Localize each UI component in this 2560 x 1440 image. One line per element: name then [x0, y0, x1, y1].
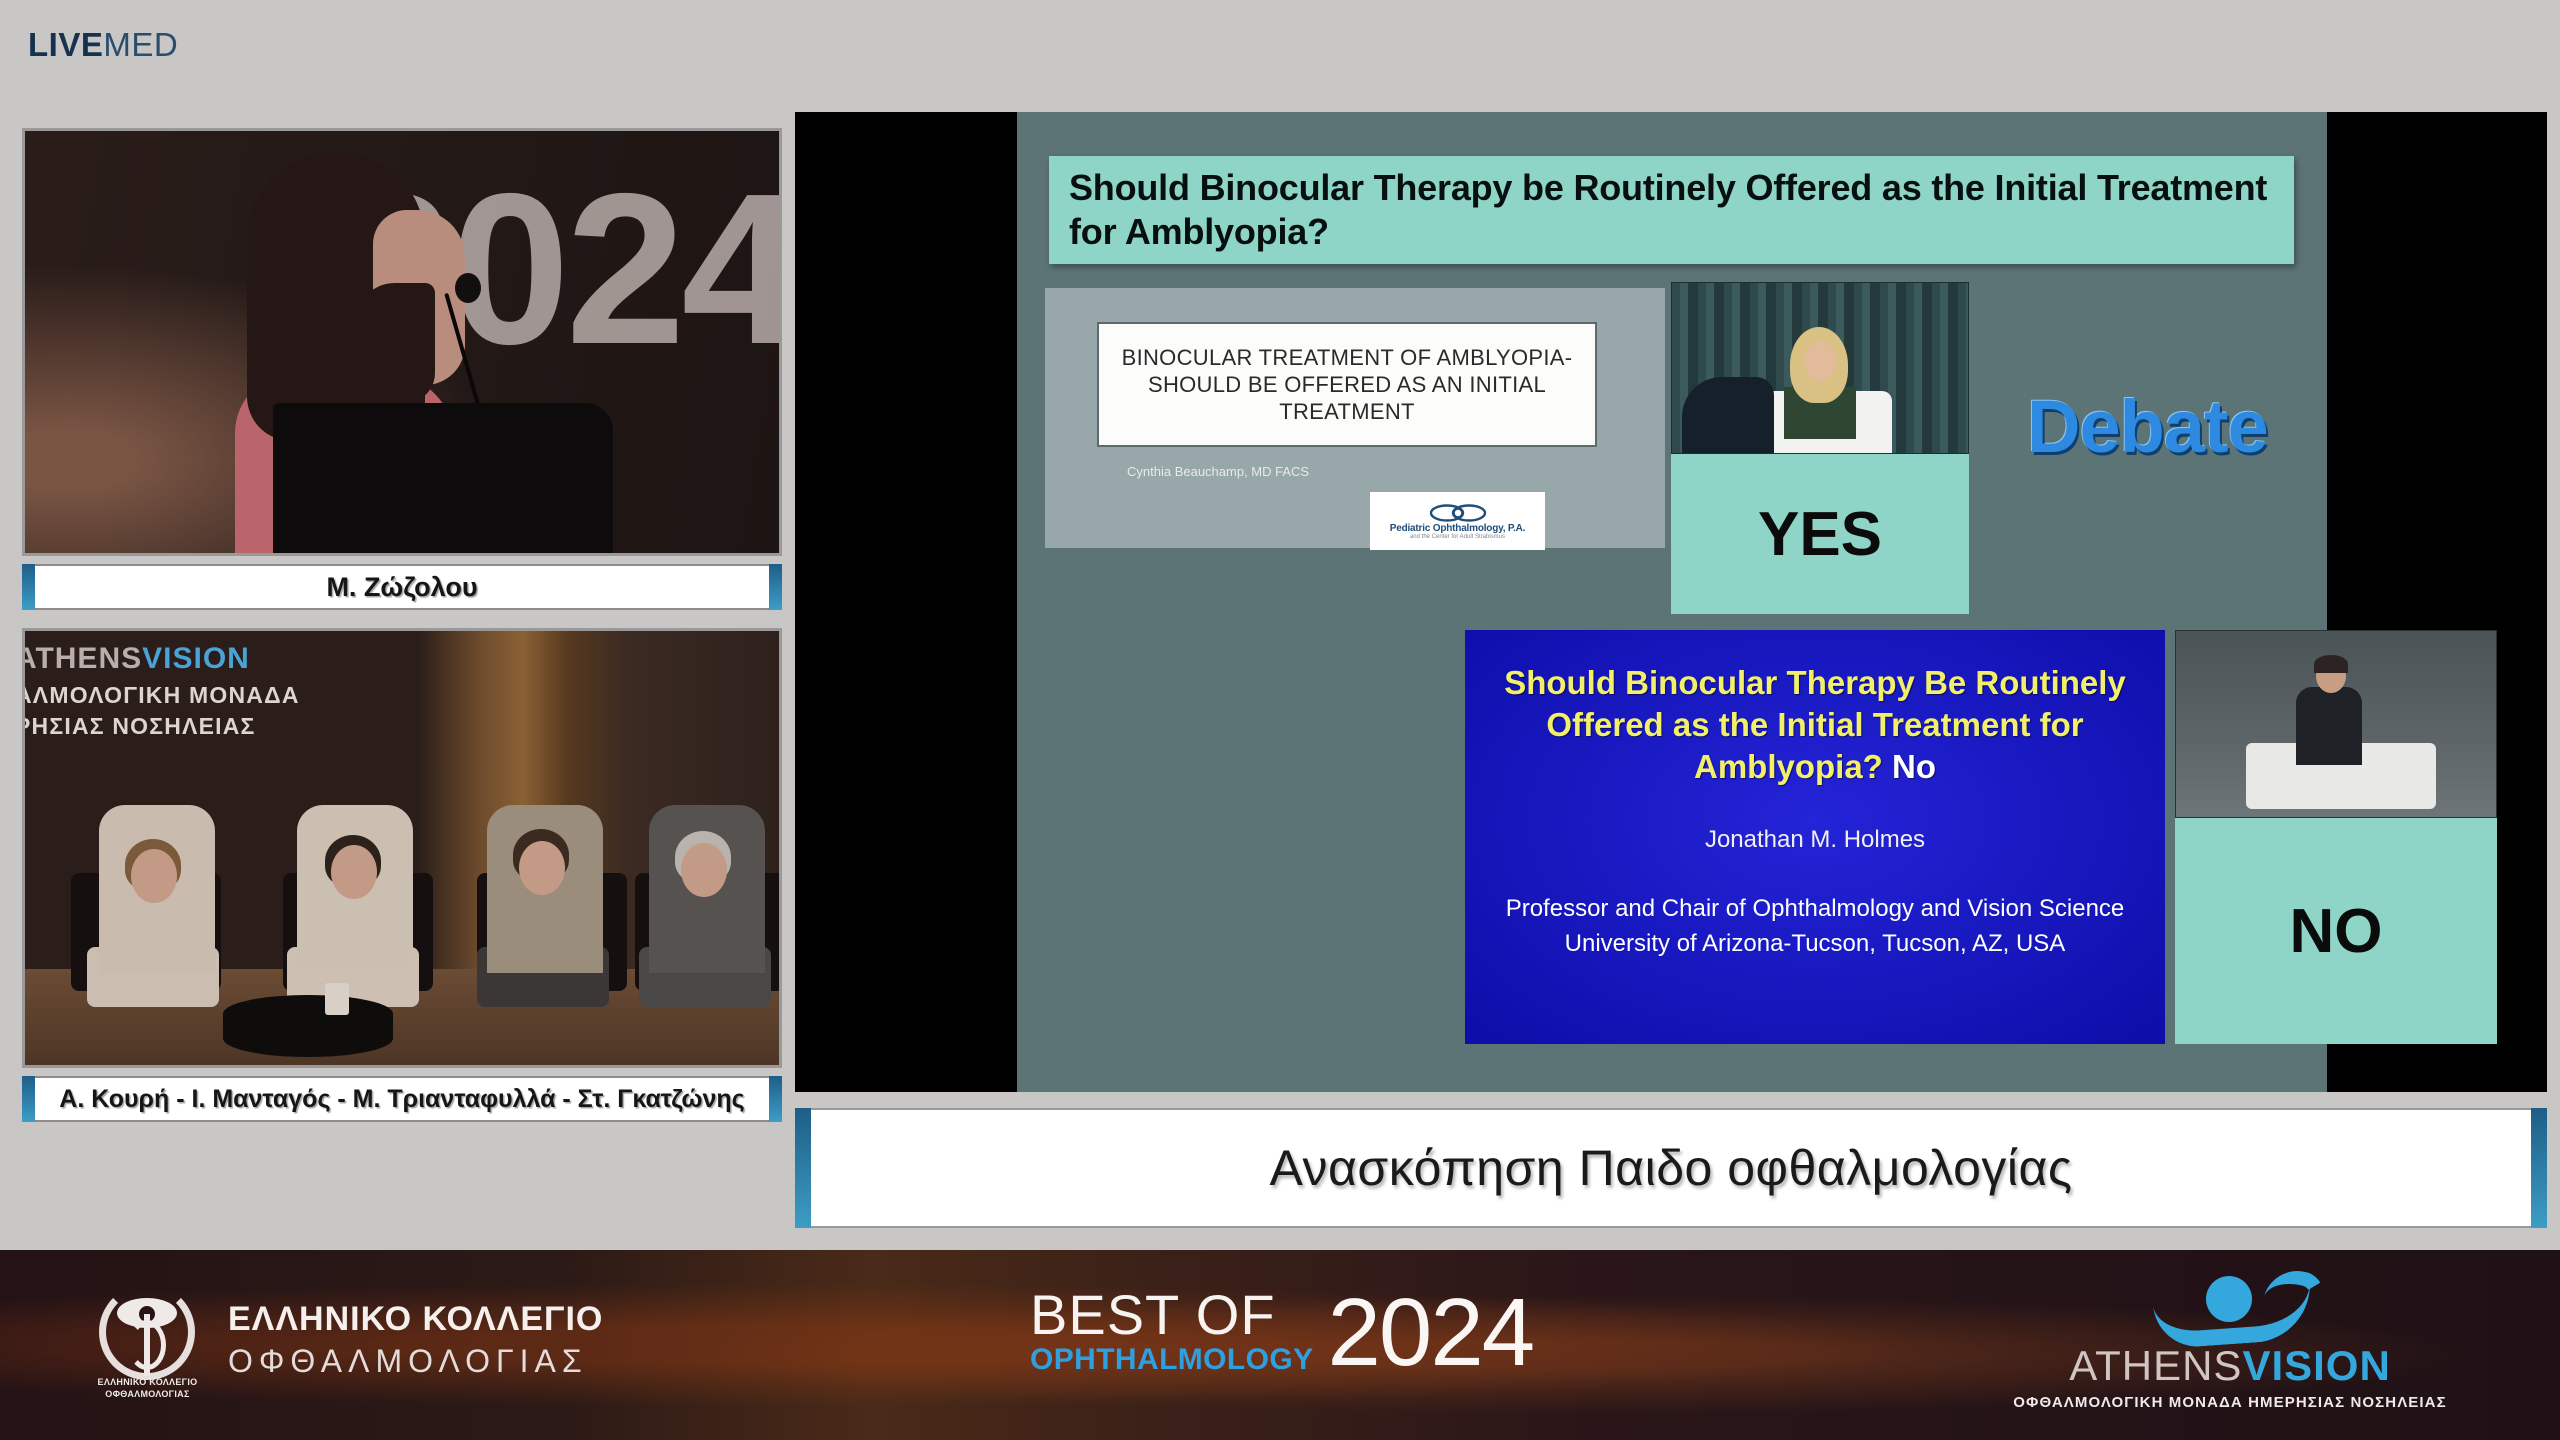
no-speaker-affiliation: Professor and Chair of Ophthalmology and… — [1465, 892, 2165, 962]
best-of-text-block: BEST OF OPHTHALMOLOGY — [1030, 1288, 1314, 1377]
affiliation-line-2: University of Arizona-Tucson, Tucson, AZ… — [1465, 927, 2165, 962]
panelists-name-text: Α. Κουρή - Ι. Μανταγός - Μ. Τριανταφυλλά… — [59, 1085, 744, 1114]
event-year: 2024 — [1328, 1290, 1534, 1376]
no-verdict-box: NO — [2175, 818, 2497, 1044]
panelists-name-bar: Α. Κουρή - Ι. Μανταγός - Μ. Τριανταφυλλά… — [22, 1076, 782, 1122]
debate-label: Debate — [2027, 384, 2268, 469]
emblem-caption: ΕΛΛΗΝΙΚΟ ΚΟΛΛΕΓΙΟ ΟΦΘΑΛΜΟΛΟΓΙΑΣ — [95, 1376, 200, 1400]
presentation-slide: Should Binocular Therapy be Routinely Of… — [1017, 112, 2327, 1092]
slide-title-banner: Should Binocular Therapy be Routinely Of… — [1049, 156, 2294, 264]
backdrop-sponsor-text: ATHENSVISION ΑΛΜΟΛΟΓΙΚΗ ΜΟΝΑΔΑ ΡΗΣΙΑΣ ΝΟ… — [22, 639, 300, 742]
no-slide-title-white: No — [1883, 748, 1936, 785]
livemed-logo: LIVEMED — [28, 26, 178, 64]
podium — [273, 403, 613, 553]
speaker-name-bar: Μ. Ζώζολου — [22, 564, 782, 610]
hellenic-college-line-1: ΕΛΛΗΝΙΚΟ ΚΟΛΛΕΓΙΟ — [228, 1300, 603, 1339]
video-feed-column: 2024 Μ. Ζώζολου ATHENSVISION ΑΛΜΟΛΟΓΙΚΗ … — [22, 128, 782, 1122]
backdrop-athensvision: ATHENSVISION — [22, 639, 300, 680]
foreground-person — [1682, 377, 1774, 453]
athensvision-subtitle: ΟΦΘΑΛΜΟΛΟΓΙΚΗ ΜΟΝΑΔΑ ΗΜΕΡΗΣΙΑΣ ΝΟΣΗΛΕΙΑΣ — [2010, 1394, 2450, 1411]
hellenic-college-line-2: ΟΦΘΑΛΜΟΛΟΓΙΑΣ — [228, 1343, 603, 1380]
session-title-bar: Ανασκόπηση Παιδο οφθαλμολογίας — [795, 1108, 2547, 1228]
video-feed-speaker[interactable]: 2024 — [22, 128, 782, 556]
backdrop-line3: ΡΗΣΙΑΣ ΝΟΣΗΛΕΙΑΣ — [22, 711, 300, 742]
yes-speaker-face — [1804, 341, 1836, 381]
broadcast-stage: LIVEMED 2024 Μ. Ζώζολου ATHENSVISION ΑΛΜ… — [0, 0, 2560, 1440]
yes-side-thumbnail: BINOCULAR TREATMENT OF AMBLYOPIA- SHOULD… — [1045, 288, 1665, 548]
panelist-head — [519, 841, 565, 895]
coffee-table — [223, 995, 393, 1057]
livemed-logo-light: MED — [103, 26, 178, 63]
yes-verdict-text: YES — [1758, 499, 1882, 570]
logo-name: Pediatric Ophthalmology, P.A. — [1390, 523, 1526, 534]
athensvision-name-blue: VISION — [2242, 1342, 2390, 1389]
athensvision-wordmark: ATHENSVISION — [2010, 1342, 2450, 1390]
session-title-text: Ανασκόπηση Παιδο οφθαλμολογίας — [1270, 1139, 2073, 1197]
no-verdict-text: NO — [2290, 896, 2383, 967]
linked-eyes-icon — [1429, 503, 1487, 523]
best-of-label: BEST OF — [1030, 1288, 1314, 1343]
hellenic-college-text: ΕΛΛΗΝΙΚΟ ΚΟΛΛΕΓΙΟ ΟΦΘΑΛΜΟΛΟΓΙΑΣ — [228, 1300, 603, 1380]
no-slide-title: Should Binocular Therapy Be Routinely Of… — [1487, 662, 2143, 789]
no-speaker-hair — [2314, 655, 2348, 673]
speaker-hair-front — [355, 283, 435, 403]
caduceus-eye-emblem-icon: ΕΛΛΗΝΙΚΟ ΚΟΛΛΕΓΙΟ ΟΦΘΑΛΜΟΛΟΓΙΑΣ — [95, 1280, 200, 1400]
slide-viewer[interactable]: Should Binocular Therapy be Routinely Of… — [795, 112, 2547, 1092]
no-speaker-photo — [2175, 630, 2497, 818]
yes-author-name: Cynthia Beauchamp, MD FACS — [1127, 464, 1309, 479]
pediatric-ophthalmology-logo: Pediatric Ophthalmology, P.A. and the Ce… — [1370, 492, 1545, 550]
livemed-logo-bold: LIVE — [28, 26, 103, 63]
backdrop-line2: ΑΛΜΟΛΟΓΙΚΗ ΜΟΝΑΔΑ — [22, 680, 300, 711]
video-feed-panel[interactable]: ATHENSVISION ΑΛΜΟΛΟΓΙΚΗ ΜΟΝΑΔΑ ΡΗΣΙΑΣ ΝΟ… — [22, 628, 782, 1068]
affiliation-line-1: Professor and Chair of Ophthalmology and… — [1465, 892, 2165, 927]
microphone-head — [455, 273, 481, 303]
serpent-shape — [128, 1320, 166, 1370]
yes-slide-card-text: BINOCULAR TREATMENT OF AMBLYOPIA- SHOULD… — [1099, 344, 1595, 426]
sponsor-footer: ΕΛΛΗΝΙΚΟ ΚΟΛΛΕΓΙΟ ΟΦΘΑΛΜΟΛΟΓΙΑΣ ΕΛΛΗΝΙΚΟ… — [0, 1250, 2560, 1440]
yes-speaker-photo — [1671, 282, 1969, 454]
slide-title-text: Should Binocular Therapy be Routinely Of… — [1069, 166, 2274, 254]
yes-verdict-box: YES — [1671, 454, 1969, 614]
ophthalmology-label: OPHTHALMOLOGY — [1030, 1343, 1314, 1377]
athensvision-eye-icon — [2010, 1270, 2450, 1342]
athensvision-logo: ATHENSVISION ΟΦΘΑΛΜΟΛΟΓΙΚΗ ΜΟΝΑΔΑ ΗΜΕΡΗΣ… — [2010, 1270, 2450, 1411]
no-speaker-torso — [2296, 687, 2362, 765]
emblem-caption-line-1: ΕΛΛΗΝΙΚΟ ΚΟΛΛΕΓΙΟ — [95, 1376, 200, 1388]
yes-slide-card: BINOCULAR TREATMENT OF AMBLYOPIA- SHOULD… — [1097, 322, 1597, 447]
top-brand-bar: LIVEMED — [0, 0, 2560, 95]
panelist-head — [131, 849, 177, 903]
hellenic-college-logo: ΕΛΛΗΝΙΚΟ ΚΟΛΛΕΓΙΟ ΟΦΘΑΛΜΟΛΟΓΙΑΣ ΕΛΛΗΝΙΚΟ… — [95, 1280, 603, 1400]
no-slide-title-yellow: Should Binocular Therapy Be Routinely Of… — [1504, 664, 2126, 785]
emblem-caption-line-2: ΟΦΘΑΛΜΟΛΟΓΙΑΣ — [95, 1388, 200, 1400]
no-side-thumbnail: Should Binocular Therapy Be Routinely Of… — [1465, 630, 2165, 1044]
coffee-cup — [325, 983, 349, 1015]
speaker-name-text: Μ. Ζώζολου — [326, 572, 477, 603]
panelist-head — [681, 843, 727, 897]
logo-tagline: and the Center for Adult Strabismus — [1410, 534, 1505, 540]
best-of-ophthalmology-logo: BEST OF OPHTHALMOLOGY 2024 — [1030, 1288, 1533, 1377]
athensvision-name-gray: ATHENS — [2069, 1342, 2242, 1389]
no-speaker-name: Jonathan M. Holmes — [1465, 826, 2165, 854]
panelist-head — [331, 845, 377, 899]
